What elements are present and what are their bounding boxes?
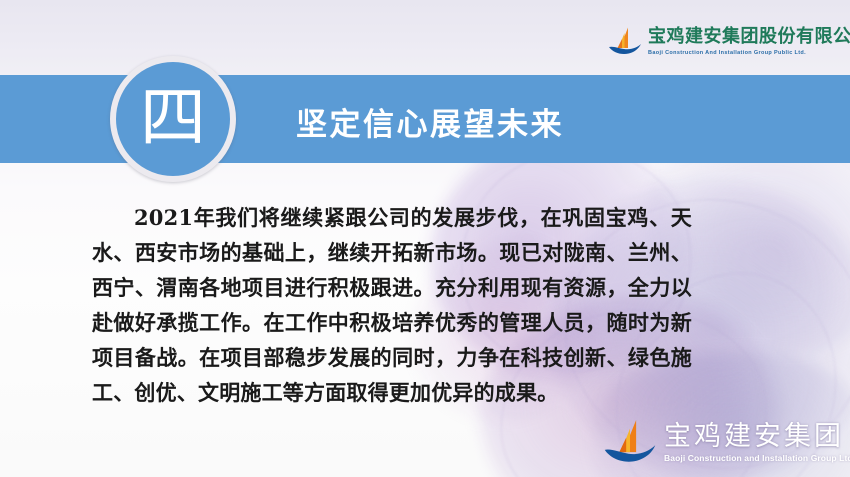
header-company-logo: 宝鸡建安集团股份有限公司 Baoji Construction And Inst…: [608, 26, 850, 58]
presentation-slide: 宝鸡建安集团股份有限公司 Baoji Construction And Inst…: [0, 0, 850, 477]
section-title: 坚定信心展望未来: [296, 99, 564, 144]
header-logo-english-name: Baoji Construction And Installation Grou…: [648, 50, 850, 57]
footer-logo-text: 宝鸡建安集团 Baoji Construction and Installati…: [664, 422, 850, 465]
body-paragraph: 2021年我们将继续紧跟公司的发展步伐，在巩固宝鸡、天水、西安市场的基础上，继续…: [92, 200, 692, 410]
header-logo-text: 宝鸡建安集团股份有限公司 Baoji Construction And Inst…: [648, 27, 850, 57]
sailboat-logo-icon: [604, 418, 656, 468]
sailboat-logo-icon: [608, 26, 642, 58]
header-logo-chinese-name: 宝鸡建安集团股份有限公司: [648, 27, 850, 48]
footer-logo-chinese-name: 宝鸡建安集团: [664, 422, 850, 452]
footer-logo-english-name: Baoji Construction and Installation Grou…: [664, 453, 850, 464]
footer-company-logo: 宝鸡建安集团 Baoji Construction and Installati…: [604, 418, 850, 468]
section-number-label: 四: [140, 85, 206, 151]
section-number-badge: 四: [110, 56, 236, 182]
